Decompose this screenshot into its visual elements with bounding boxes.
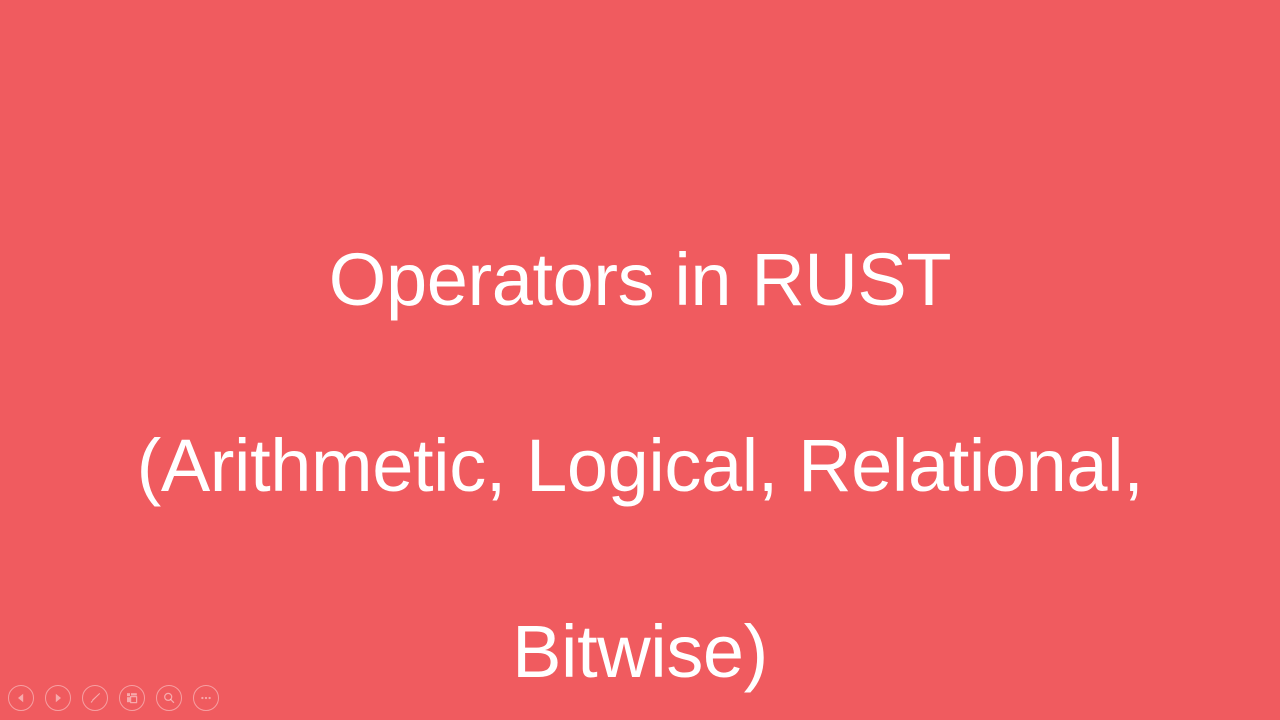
- magnifier-icon: [161, 690, 177, 706]
- previous-slide-button[interactable]: [8, 685, 34, 711]
- more-options-button[interactable]: [193, 685, 219, 711]
- title-line-2: (Arithmetic, Logical, Relational,: [80, 419, 1200, 512]
- slide-overview-button[interactable]: [119, 685, 145, 711]
- title-line-1: Operators in RUST: [80, 233, 1200, 326]
- slide-toolbar: [0, 676, 1280, 720]
- zoom-button[interactable]: [156, 685, 182, 711]
- slide-viewer[interactable]: Operators in RUST (Arithmetic, Logical, …: [0, 0, 1280, 720]
- next-slide-button[interactable]: [45, 685, 71, 711]
- grid-layout-icon: [124, 690, 140, 706]
- slide-title: Operators in RUST (Arithmetic, Logical, …: [80, 140, 1200, 720]
- pen-icon: [87, 690, 103, 706]
- triangle-left-icon: [13, 690, 29, 706]
- slide-content: Operators in RUST (Arithmetic, Logical, …: [0, 0, 1280, 720]
- triangle-right-icon: [50, 690, 66, 706]
- pen-tool-button[interactable]: [82, 685, 108, 711]
- ellipsis-icon: [198, 690, 214, 706]
